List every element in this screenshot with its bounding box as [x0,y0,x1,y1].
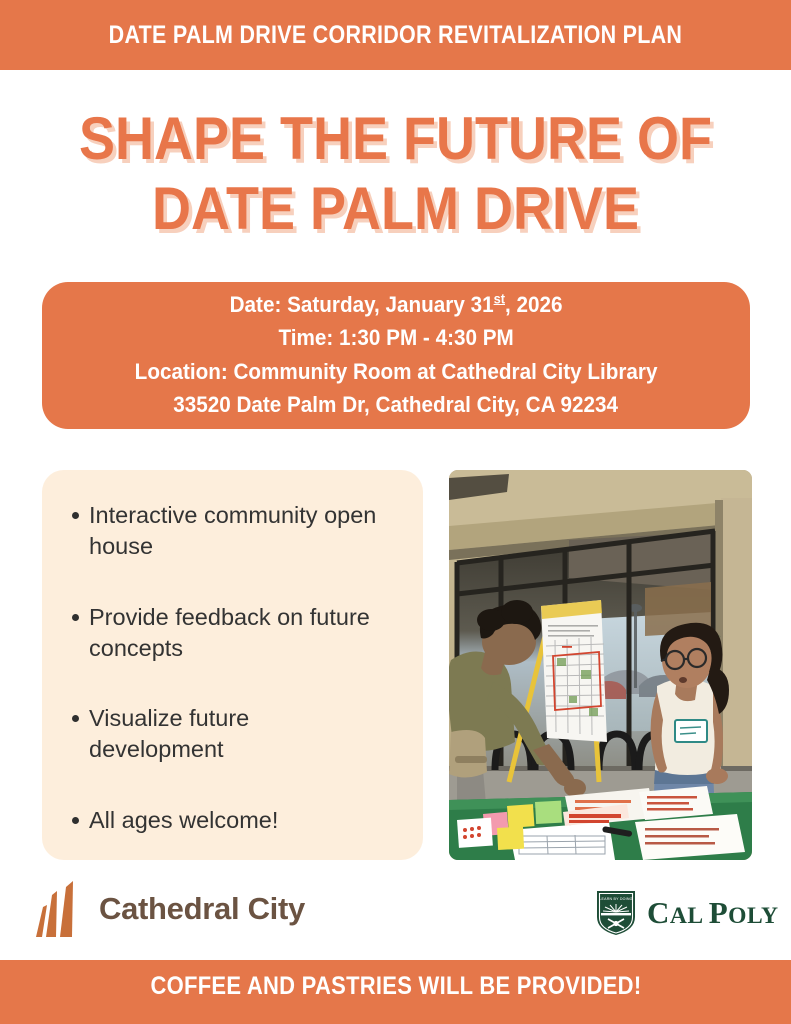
list-item-label: Visualize future development [89,703,389,766]
event-date-year: , 2026 [505,292,563,317]
cal-poly-al: AL [670,903,709,929]
event-location: Location: Community Room at Cathedral Ci… [135,355,658,388]
footer-banner-text: COFFEE AND PASTRIES WILL BE PROVIDED! [150,972,641,1001]
cal-poly-oly: OLY [728,903,778,929]
highlights-card: Interactive community open house Provide… [42,470,423,860]
list-item-label: Interactive community open house [89,500,389,563]
cathedral-city-spires-icon [34,881,86,937]
bullet-dot-icon [72,512,79,519]
list-item: Interactive community open house [72,500,403,563]
header-banner-text: DATE PALM DRIVE CORRIDOR REVITALIZATION … [109,21,683,50]
event-date: Date: Saturday, January 31st, 2026 [230,288,563,321]
list-item: Provide feedback on future concepts [72,602,403,665]
page-title-line-2: DATE PALM DRIVE [40,174,752,244]
footer-banner: COFFEE AND PASTRIES WILL BE PROVIDED! [0,960,791,1024]
cal-poly-logo-text: CAL POLY [647,895,779,931]
cathedral-city-logo: Cathedral City [34,880,305,938]
header-banner: DATE PALM DRIVE CORRIDOR REVITALIZATION … [0,0,791,70]
bullet-dot-icon [72,715,79,722]
bullet-dot-icon [72,817,79,824]
cal-poly-p: P [709,895,728,930]
page-title-line-1: SHAPE THE FUTURE OF [40,104,752,174]
list-item: Visualize future development [72,703,403,766]
list-item-label: Provide feedback on future concepts [89,602,389,665]
event-date-ordinal-suffix: st [494,291,505,306]
list-item-label: All ages welcome! [89,805,278,836]
event-date-label: Date: Saturday, January 31 [230,292,494,317]
cathedral-city-logo-text: Cathedral City [99,891,305,927]
cal-poly-c: C [647,895,670,930]
cal-poly-shield-icon: LEARN BY DOING [596,890,636,936]
event-address: 33520 Date Palm Dr, Cathedral City, CA 9… [174,388,619,421]
flyer-page: DATE PALM DRIVE CORRIDOR REVITALIZATION … [0,0,791,1024]
page-title: SHAPE THE FUTURE OF DATE PALM DRIVE [0,104,791,244]
list-item: All ages welcome! [72,805,403,836]
event-photo [449,470,752,860]
bullet-dot-icon [72,614,79,621]
event-details-box: Date: Saturday, January 31st, 2026 Time:… [42,282,750,429]
cal-poly-logo: LEARN BY DOING CAL POLY [596,889,779,937]
event-time: Time: 1:30 PM - 4:30 PM [278,321,513,354]
svg-text:LEARN BY DOING: LEARN BY DOING [599,897,632,901]
